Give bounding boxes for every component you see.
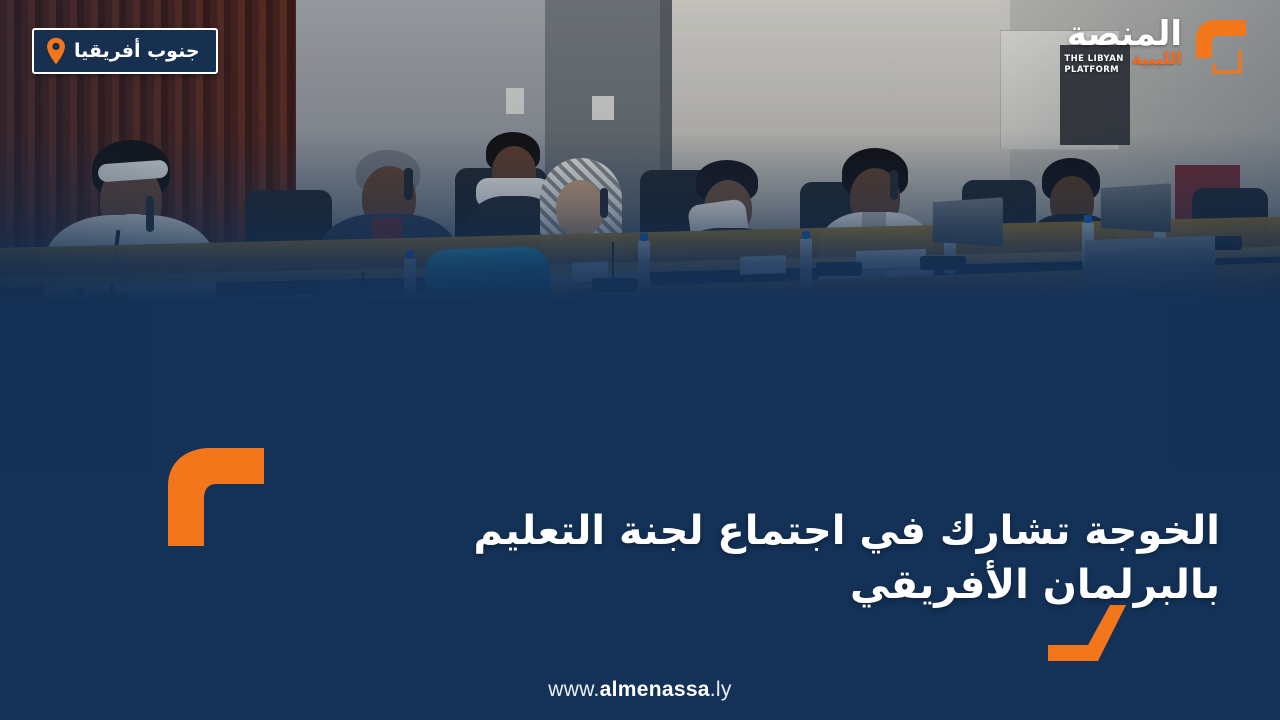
laptop [1101, 183, 1171, 232]
logo-text-block: المنصة THE LIBYANPLATFORM الليبية [1064, 14, 1182, 76]
url-brand: almenassa [600, 678, 710, 701]
paper-document [740, 255, 786, 275]
paper-document [232, 295, 314, 324]
almenassa-logo-mark-icon [1188, 14, 1254, 84]
brand-logo: المنصة THE LIBYANPLATFORM الليبية [1064, 14, 1254, 84]
cable [900, 300, 940, 420]
red-cup [100, 292, 128, 332]
wall-vent-secondary [592, 96, 614, 120]
news-card: جنوب أفريقيا المنصة THE LIBYANPLATFORM ا… [0, 0, 1280, 720]
orange-bracket-bottom-right-icon [1048, 605, 1126, 661]
cable [104, 340, 144, 470]
microphone [920, 256, 966, 270]
logo-subtitle-row: THE LIBYANPLATFORM الليبية [1064, 51, 1182, 75]
microphone [816, 262, 862, 276]
water-bottle [404, 258, 416, 306]
water-bottle [638, 240, 650, 288]
paper-document [0, 331, 64, 353]
microphone [340, 310, 386, 324]
url-prefix: www. [548, 678, 599, 701]
projector-unit [1098, 310, 1230, 375]
location-label: جنوب أفريقيا [74, 42, 200, 61]
headline-title: الخوجة تشارك في اجتماع لجنة التعليم بالب… [320, 505, 1220, 612]
footer-website-url[interactable]: www.almenassa.ly [0, 678, 1280, 702]
laptop [933, 197, 1003, 246]
logo-english-text: THE LIBYANPLATFORM [1064, 51, 1123, 75]
cable [1040, 286, 1084, 396]
cable [420, 330, 450, 470]
logo-english-line1: THE LIBYAN [1064, 54, 1123, 64]
paper-document [856, 249, 926, 269]
microphone [592, 278, 638, 292]
location-badge: جنوب أفريقيا [32, 28, 218, 74]
cable [300, 334, 336, 470]
logo-english-line2: PLATFORM [1064, 65, 1119, 75]
logo-arabic-secondary: الليبية [1132, 51, 1182, 68]
microphone-stem [612, 242, 614, 280]
orange-bracket-top-left-icon [168, 446, 264, 546]
microphone-stem [134, 300, 136, 344]
map-pin-icon [45, 37, 67, 65]
url-tld: .ly [710, 678, 732, 701]
logo-arabic-primary: المنصة [1067, 18, 1182, 50]
cable [600, 320, 634, 470]
water-bottle [800, 238, 812, 286]
microphone-stem [362, 272, 364, 312]
grey-equipment-stand [1085, 236, 1215, 321]
cable [724, 312, 752, 462]
water-bottle [74, 295, 86, 343]
wall-vent [506, 88, 524, 114]
